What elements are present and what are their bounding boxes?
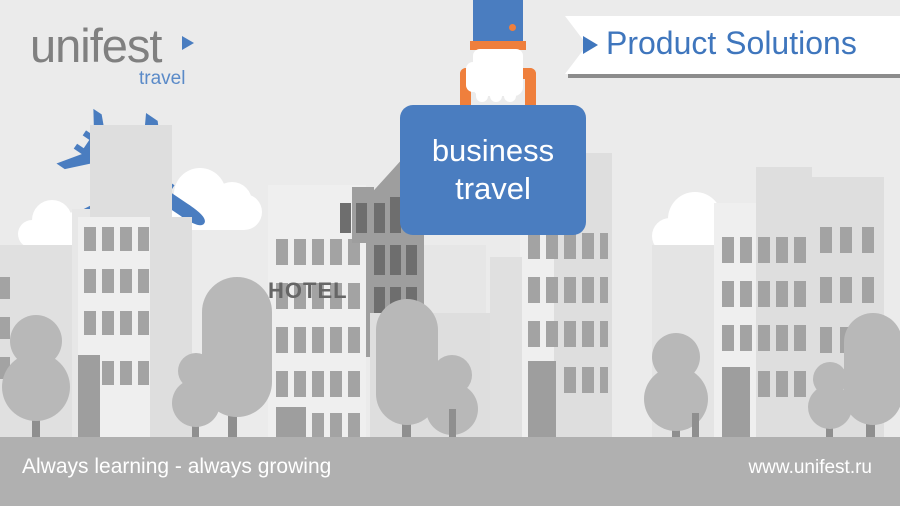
- finger: [490, 84, 502, 102]
- banner-triangle-right-icon: [583, 36, 598, 54]
- logo-wordmark: unifest: [30, 22, 161, 69]
- suitcase-line-2: travel: [455, 170, 531, 208]
- footer-website[interactable]: www.unifest.ru: [748, 458, 872, 477]
- brand-logo[interactable]: unifest travel: [30, 22, 240, 92]
- suitcase-handle-right: [525, 68, 536, 106]
- hotel-sign: HOTEL: [268, 280, 348, 302]
- suitcase-line-1: business: [432, 132, 554, 170]
- slide-canvas: unifest travel Product Solutions: [0, 0, 900, 506]
- logo-tagline: travel: [139, 69, 185, 88]
- finger: [476, 84, 488, 102]
- footer-tagline: Always learning - always growing: [22, 456, 331, 477]
- hand-holding-suitcase: [452, 0, 544, 115]
- triangle-right-icon: [182, 36, 194, 50]
- finger: [504, 84, 516, 102]
- banner-underline: [568, 74, 900, 78]
- sleeve-button-icon: [509, 24, 516, 31]
- sleeve: [473, 0, 523, 42]
- banner-title: Product Solutions: [606, 27, 857, 59]
- business-travel-suitcase[interactable]: business travel: [400, 105, 586, 235]
